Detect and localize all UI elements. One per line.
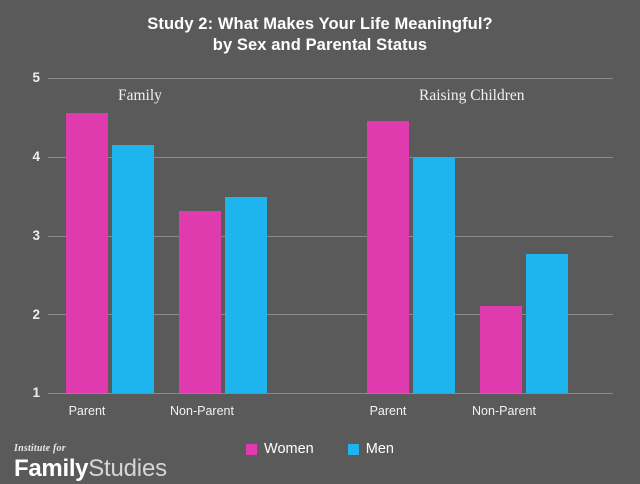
y-axis-tick-4: 4 bbox=[22, 150, 40, 163]
bar-raising-nonparent-men bbox=[526, 254, 568, 393]
chart-title-line-2: by Sex and Parental Status bbox=[0, 35, 640, 56]
y-axis-tick-1: 1 bbox=[22, 386, 40, 399]
legend-item-women: Women bbox=[246, 442, 314, 457]
legend-label-men: Men bbox=[366, 442, 394, 457]
y-axis-tick-3: 3 bbox=[22, 229, 40, 242]
logo-line-institute-for: Institute for bbox=[14, 444, 167, 454]
legend-swatch-men-icon bbox=[348, 444, 359, 455]
legend-label-women: Women bbox=[264, 442, 314, 457]
bar-family-parent-men bbox=[112, 145, 154, 393]
y-axis-tick-5: 5 bbox=[22, 71, 40, 84]
gridline-1 bbox=[48, 393, 613, 394]
y-axis-tick-2: 2 bbox=[22, 308, 40, 321]
legend-swatch-women-icon bbox=[246, 444, 257, 455]
bar-family-nonparent-men bbox=[225, 197, 267, 393]
institute-for-family-studies-logo: Institute for FamilyStudies bbox=[14, 444, 167, 481]
bar-raising-parent-women bbox=[367, 121, 409, 393]
panel-label-raising-children: Raising Children bbox=[419, 88, 524, 104]
bar-raising-nonparent-women bbox=[480, 306, 522, 393]
bar-family-parent-women bbox=[66, 113, 108, 393]
legend-item-men: Men bbox=[348, 442, 394, 457]
logo-word-studies: Studies bbox=[88, 455, 167, 482]
chart-title: Study 2: What Makes Your Life Meaningful… bbox=[0, 14, 640, 56]
bar-raising-parent-men bbox=[413, 157, 455, 393]
category-label-raising-parent: Parent bbox=[343, 405, 433, 418]
category-label-family-nonparent: Non-Parent bbox=[152, 405, 252, 418]
category-label-raising-nonparent: Non-Parent bbox=[454, 405, 554, 418]
logo-word-family: Family bbox=[14, 455, 88, 482]
chart-root: Study 2: What Makes Your Life Meaningful… bbox=[0, 0, 640, 484]
category-label-family-parent: Parent bbox=[42, 405, 132, 418]
plot-area: Family Raising Children bbox=[48, 78, 613, 393]
panel-label-family: Family bbox=[118, 88, 162, 104]
chart-title-line-1: Study 2: What Makes Your Life Meaningful… bbox=[0, 14, 640, 35]
gridline-5 bbox=[48, 78, 613, 79]
bar-family-nonparent-women bbox=[179, 211, 221, 393]
logo-line-family-studies: FamilyStudies bbox=[14, 456, 167, 481]
